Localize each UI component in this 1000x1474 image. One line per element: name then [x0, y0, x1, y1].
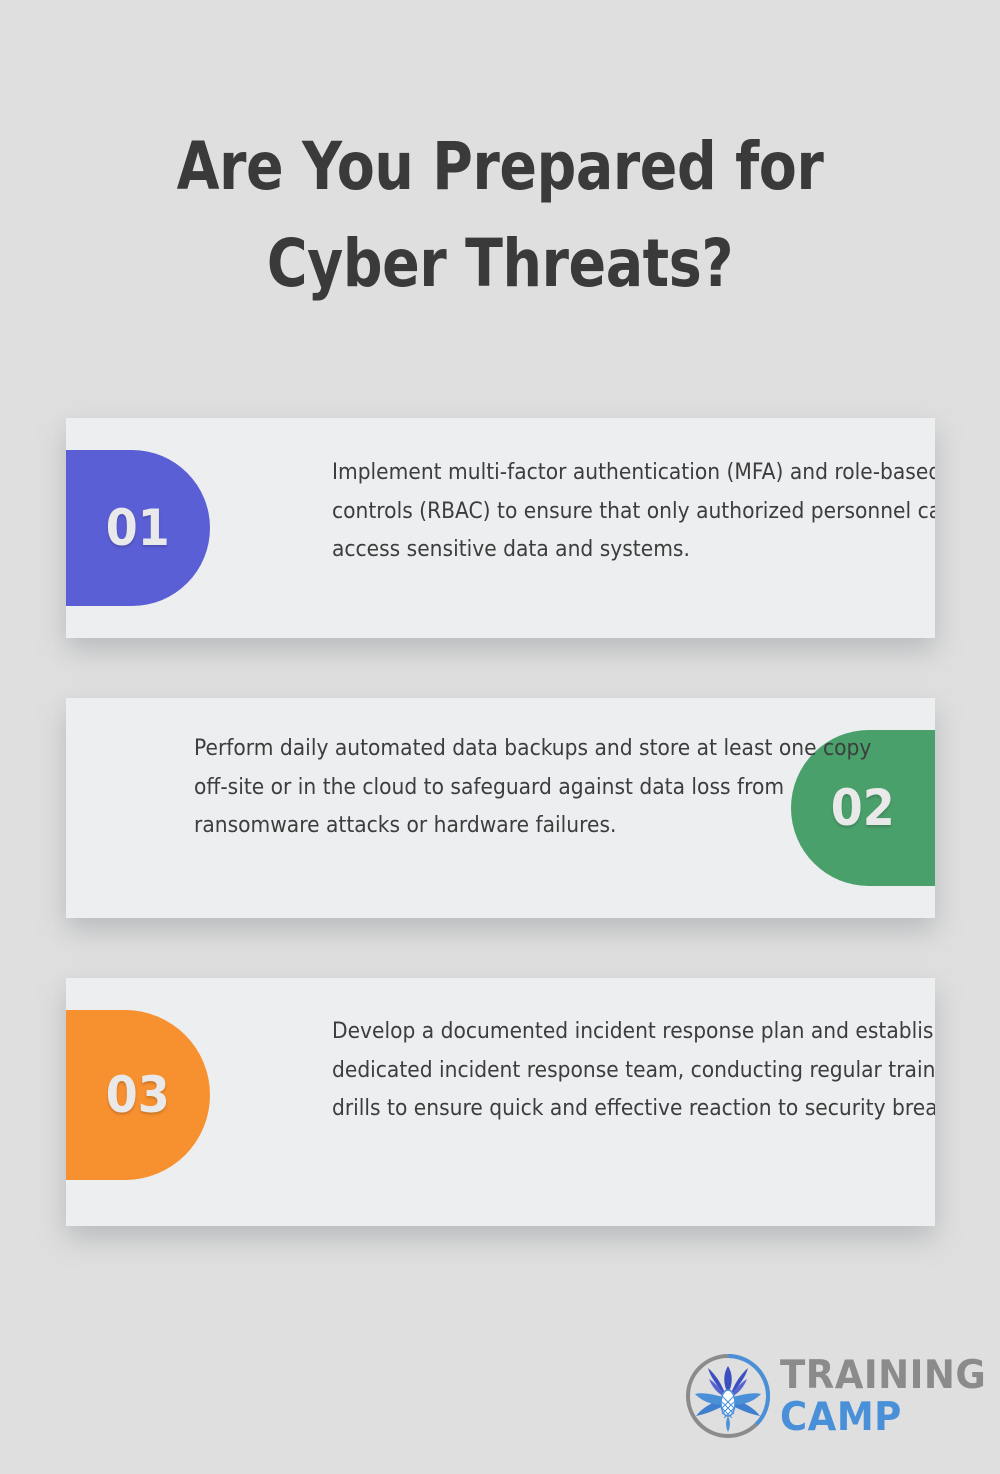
brand-logo: TRAINING CAMP [684, 1348, 950, 1444]
brand-word-training: TRAINING [780, 1356, 986, 1396]
page-title: Are You Prepared for Cyber Threats? [0, 118, 1000, 312]
tip-text-2: Perform daily automated data backups and… [194, 698, 878, 845]
training-camp-emblem-icon [684, 1352, 772, 1440]
tip-card-2: 02 Perform daily automated data backups … [66, 698, 935, 918]
infographic-page: Are You Prepared for Cyber Threats? 01 I… [0, 0, 1000, 1474]
tip-number-badge-1: 01 [66, 450, 210, 606]
tip-number-3: 03 [106, 1070, 170, 1120]
page-title-line-2: Cyber Threats? [80, 215, 920, 312]
page-title-line-1: Are You Prepared for [80, 118, 920, 215]
brand-word-camp: CAMP [780, 1398, 986, 1438]
tip-text-1: Implement multi-factor authentication (M… [332, 418, 935, 569]
tip-number-badge-3: 03 [66, 1010, 210, 1180]
tip-card-1: 01 Implement multi-factor authentication… [66, 418, 935, 638]
brand-wordmark: TRAINING CAMP [780, 1356, 997, 1438]
tip-card-3: 03 Develop a documented incident respons… [66, 978, 935, 1226]
tip-text-3: Develop a documented incident response p… [332, 978, 935, 1128]
tip-number-1: 01 [106, 503, 170, 553]
